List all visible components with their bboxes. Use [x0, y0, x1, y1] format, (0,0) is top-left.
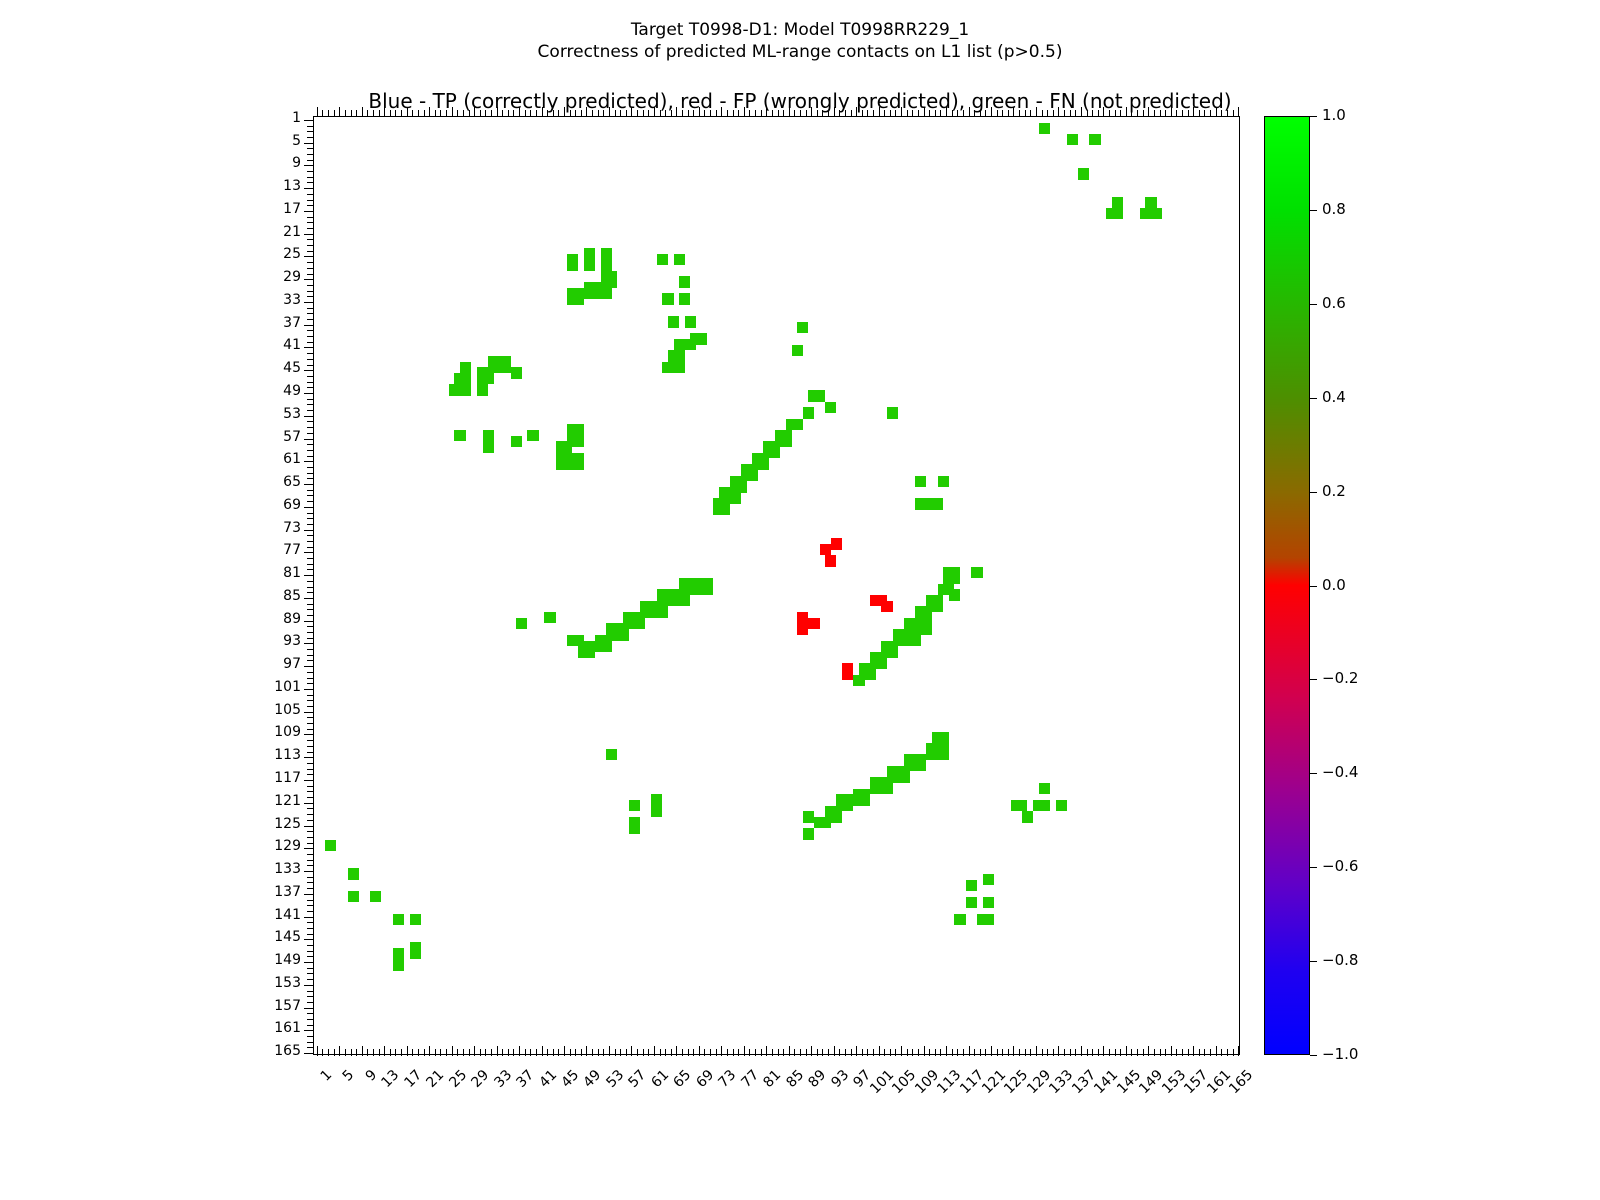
- y-tick: [307, 467, 314, 468]
- x-tick-bottom: [575, 1049, 576, 1056]
- x-tick-top: [1025, 110, 1026, 117]
- y-tick: [307, 723, 314, 724]
- x-tick-bottom: [1227, 1049, 1228, 1056]
- y-tick: [307, 558, 314, 559]
- y-tick: [307, 786, 314, 787]
- y-axis-tick-label: 81: [241, 565, 301, 581]
- x-tick-bottom: [862, 1049, 863, 1056]
- y-tick: [307, 285, 314, 286]
- contact-cell-fn: [915, 498, 943, 509]
- x-tick-bottom: [839, 1049, 840, 1056]
- x-tick-top: [1137, 110, 1138, 117]
- y-axis-tick-label: 17: [241, 201, 301, 217]
- y-tick: [307, 638, 314, 639]
- x-tick-bottom: [491, 1049, 492, 1056]
- x-tick-bottom: [1204, 1049, 1205, 1056]
- x-tick-top: [778, 110, 779, 117]
- y-axis-tick-label: 29: [241, 269, 301, 285]
- y-tick: [307, 313, 314, 314]
- x-tick-top: [480, 110, 481, 117]
- x-tick-top: [564, 107, 565, 117]
- contact-cell-fn: [674, 362, 685, 373]
- y-tick: [307, 1036, 314, 1037]
- colorbar-tick-label: 0.4: [1322, 388, 1346, 406]
- y-tick: [304, 780, 314, 781]
- contact-cell-fn: [1033, 800, 1050, 811]
- x-tick-bottom: [1064, 1049, 1065, 1056]
- y-tick: [304, 211, 314, 212]
- y-tick: [304, 439, 314, 440]
- y-tick: [307, 979, 314, 980]
- y-axis-tick-label: 69: [241, 497, 301, 513]
- x-tick-bottom: [716, 1049, 717, 1056]
- y-tick: [304, 1053, 314, 1054]
- y-tick: [307, 433, 314, 434]
- colorbar-tick: [1310, 867, 1317, 868]
- y-tick: [307, 541, 314, 542]
- x-tick-bottom: [1238, 1046, 1239, 1056]
- y-tick: [304, 734, 314, 735]
- x-tick-top: [440, 110, 441, 117]
- contact-cell-fn: [674, 339, 696, 350]
- x-tick-bottom: [727, 1049, 728, 1056]
- x-tick-bottom: [570, 1049, 571, 1056]
- colorbar-tick-label: 0.0: [1322, 576, 1346, 594]
- y-tick: [307, 291, 314, 292]
- x-tick-bottom: [867, 1049, 868, 1056]
- x-tick-top: [1131, 110, 1132, 117]
- contact-cell-fp: [825, 555, 836, 566]
- x-tick-bottom: [339, 1046, 340, 1056]
- x-tick-top: [1182, 110, 1183, 117]
- contact-cell-fn: [1106, 208, 1123, 219]
- y-axis-tick-label: 117: [241, 770, 301, 786]
- y-tick: [307, 239, 314, 240]
- contact-cell-fn: [949, 589, 960, 600]
- contact-cell-fn: [713, 498, 730, 515]
- contact-cell-fn: [668, 350, 685, 361]
- x-tick-bottom: [794, 1049, 795, 1056]
- x-tick-top: [513, 110, 514, 117]
- contact-cell-fn: [1056, 800, 1067, 811]
- y-tick: [307, 126, 314, 127]
- y-tick: [307, 660, 314, 661]
- x-tick-top: [491, 110, 492, 117]
- contact-cell-fn: [410, 914, 421, 925]
- x-tick-top: [1221, 110, 1222, 117]
- x-tick-bottom: [1182, 1049, 1183, 1056]
- y-tick: [304, 302, 314, 303]
- x-tick-bottom: [1188, 1049, 1189, 1056]
- x-tick-top: [424, 110, 425, 117]
- y-axis-tick-label: 89: [241, 611, 301, 627]
- x-tick-top: [912, 110, 913, 117]
- x-tick-bottom: [345, 1049, 346, 1056]
- x-tick-top: [710, 110, 711, 117]
- contact-cell-fn: [966, 880, 977, 891]
- x-tick-bottom: [1008, 1049, 1009, 1056]
- contact-cell-fn: [685, 316, 696, 327]
- x-tick-bottom: [822, 1049, 823, 1056]
- y-tick: [307, 843, 314, 844]
- x-tick-bottom: [1058, 1046, 1059, 1056]
- y-tick: [307, 695, 314, 696]
- x-tick-bottom: [390, 1049, 391, 1056]
- contact-map-figure: Target T0998-D1: Model T0998RR229_1 Corr…: [0, 0, 1600, 1200]
- x-tick-bottom: [542, 1046, 543, 1056]
- x-tick-top: [1176, 110, 1177, 117]
- x-tick-bottom: [615, 1049, 616, 1056]
- x-tick-top: [991, 107, 992, 117]
- x-tick-bottom: [1030, 1049, 1031, 1056]
- contact-cell-fn: [853, 675, 864, 686]
- contact-cell-fn: [449, 384, 471, 395]
- y-tick: [307, 399, 314, 400]
- y-axis-tick-label: 25: [241, 246, 301, 262]
- x-tick-top: [536, 110, 537, 117]
- x-tick-top: [1019, 110, 1020, 117]
- y-tick: [304, 643, 314, 644]
- colorbar-tick-label: 0.6: [1322, 294, 1346, 312]
- contact-cell-fn: [814, 817, 831, 828]
- x-tick-top: [1160, 110, 1161, 117]
- contact-cell-fn: [983, 874, 994, 885]
- x-tick-top: [738, 110, 739, 117]
- contact-cell-fn: [348, 891, 359, 902]
- y-tick: [307, 564, 314, 565]
- y-tick: [307, 228, 314, 229]
- contact-cell-fn: [1140, 208, 1162, 219]
- x-tick-top: [940, 110, 941, 117]
- x-tick-bottom: [1126, 1046, 1127, 1056]
- x-tick-top: [755, 110, 756, 117]
- x-tick-bottom: [643, 1049, 644, 1056]
- y-tick: [307, 996, 314, 997]
- contact-cell-fn: [679, 293, 690, 304]
- x-tick-top: [317, 107, 318, 117]
- x-tick-top: [879, 107, 880, 117]
- x-tick-bottom: [806, 1049, 807, 1056]
- x-tick-bottom: [1092, 1049, 1093, 1056]
- y-tick: [307, 524, 314, 525]
- y-axis-tick-label: 1: [241, 110, 301, 126]
- x-tick-bottom: [749, 1049, 750, 1056]
- y-tick: [307, 222, 314, 223]
- x-tick-top: [525, 110, 526, 117]
- x-tick-bottom: [446, 1049, 447, 1056]
- y-tick: [307, 182, 314, 183]
- x-tick-top: [1109, 110, 1110, 117]
- contact-cell-fn: [1067, 134, 1078, 145]
- y-tick: [304, 165, 314, 166]
- y-axis-tick-label: 153: [241, 975, 301, 991]
- x-tick-top: [1013, 107, 1014, 117]
- x-tick-top: [957, 110, 958, 117]
- x-tick-top: [901, 107, 902, 117]
- y-tick: [307, 1042, 314, 1043]
- y-tick: [307, 609, 314, 610]
- y-tick: [307, 319, 314, 320]
- y-tick: [307, 365, 314, 366]
- x-tick-bottom: [744, 1046, 745, 1056]
- y-tick: [307, 421, 314, 422]
- x-tick-top: [508, 110, 509, 117]
- x-tick-top: [822, 110, 823, 117]
- x-tick-top: [553, 110, 554, 117]
- y-tick: [304, 370, 314, 371]
- contact-cell-fn: [938, 476, 949, 487]
- x-tick-bottom: [1115, 1049, 1116, 1056]
- x-tick-bottom: [497, 1046, 498, 1056]
- contact-cell-fp: [881, 601, 892, 612]
- contact-cell-fn: [1039, 783, 1050, 794]
- x-tick-bottom: [1165, 1049, 1166, 1056]
- x-tick-top: [895, 110, 896, 117]
- contact-cell-fn: [1039, 123, 1050, 134]
- x-tick-bottom: [469, 1049, 470, 1056]
- y-axis-tick-label: 105: [241, 702, 301, 718]
- x-tick-bottom: [682, 1049, 683, 1056]
- x-tick-bottom: [530, 1049, 531, 1056]
- x-tick-bottom: [738, 1049, 739, 1056]
- x-tick-bottom: [800, 1049, 801, 1056]
- x-tick-bottom: [1210, 1049, 1211, 1056]
- y-tick: [304, 393, 314, 394]
- contact-cell-fn: [567, 635, 584, 646]
- x-tick-bottom: [733, 1049, 734, 1056]
- x-tick-bottom: [654, 1046, 655, 1056]
- contact-cell-fn: [410, 942, 421, 959]
- contact-cell-fn: [853, 789, 870, 806]
- x-tick-top: [1042, 110, 1043, 117]
- y-tick: [307, 945, 314, 946]
- x-tick-bottom: [901, 1046, 902, 1056]
- x-tick-top: [558, 110, 559, 117]
- contact-cell-fn: [803, 407, 814, 418]
- x-tick-bottom: [710, 1049, 711, 1056]
- x-tick-bottom: [452, 1046, 453, 1056]
- contact-cell-fn: [1089, 134, 1100, 145]
- y-tick: [307, 456, 314, 457]
- contact-cell-fn: [454, 430, 465, 441]
- contact-cell-fn: [516, 618, 527, 629]
- y-tick: [307, 797, 314, 798]
- x-tick-bottom: [1075, 1049, 1076, 1056]
- x-tick-top: [862, 110, 863, 117]
- x-tick-bottom: [929, 1049, 930, 1056]
- y-tick: [307, 604, 314, 605]
- contact-cell-fn: [977, 914, 994, 925]
- x-tick-top: [704, 110, 705, 117]
- x-tick-bottom: [508, 1049, 509, 1056]
- x-tick-bottom: [755, 1049, 756, 1056]
- x-tick-bottom: [1070, 1049, 1071, 1056]
- y-tick: [307, 513, 314, 514]
- y-tick: [304, 894, 314, 895]
- y-tick: [307, 137, 314, 138]
- x-tick-top: [469, 110, 470, 117]
- contact-cell-fn: [887, 407, 898, 418]
- y-tick: [307, 717, 314, 718]
- x-tick-bottom: [1019, 1049, 1020, 1056]
- x-tick-top: [1238, 107, 1239, 117]
- colorbar-tick: [1310, 961, 1317, 962]
- colorbar-tick-label: −0.4: [1322, 763, 1358, 781]
- x-tick-top: [772, 110, 773, 117]
- x-tick-top: [660, 110, 661, 117]
- y-tick: [307, 308, 314, 309]
- contact-cell-fn: [601, 288, 612, 299]
- x-tick-bottom: [1053, 1049, 1054, 1056]
- x-tick-top: [463, 110, 464, 117]
- contact-cell-layer: [314, 117, 1239, 1054]
- x-tick-bottom: [564, 1046, 565, 1056]
- contact-cell-fn: [662, 293, 673, 304]
- x-tick-top: [452, 107, 453, 117]
- y-axis-tick-label: 93: [241, 633, 301, 649]
- x-tick-top: [665, 110, 666, 117]
- x-tick-bottom: [1098, 1049, 1099, 1056]
- y-tick: [307, 769, 314, 770]
- colorbar-tick-label: −0.6: [1322, 857, 1358, 875]
- x-tick-top: [1081, 107, 1082, 117]
- x-tick-bottom: [1025, 1049, 1026, 1056]
- x-tick-top: [907, 110, 908, 117]
- x-tick-top: [1199, 110, 1200, 117]
- y-tick: [307, 814, 314, 815]
- y-tick: [307, 336, 314, 337]
- x-tick-bottom: [1002, 1049, 1003, 1056]
- x-tick-top: [794, 110, 795, 117]
- y-tick: [304, 325, 314, 326]
- x-tick-top: [1210, 110, 1211, 117]
- y-tick: [307, 683, 314, 684]
- contact-cell-fn: [921, 623, 932, 634]
- x-tick-bottom: [334, 1049, 335, 1056]
- x-tick-top: [395, 110, 396, 117]
- x-tick-bottom: [322, 1049, 323, 1056]
- y-tick: [307, 473, 314, 474]
- y-tick: [307, 991, 314, 992]
- x-tick-top: [643, 110, 644, 117]
- y-tick: [307, 131, 314, 132]
- y-tick: [307, 154, 314, 155]
- x-tick-top: [1008, 110, 1009, 117]
- y-tick: [307, 245, 314, 246]
- x-tick-top: [1047, 110, 1048, 117]
- x-tick-top: [390, 110, 391, 117]
- y-tick: [307, 700, 314, 701]
- x-tick-bottom: [474, 1046, 475, 1056]
- x-tick-bottom: [704, 1049, 705, 1056]
- x-tick-bottom: [851, 1049, 852, 1056]
- y-axis-tick-label: 45: [241, 360, 301, 376]
- x-tick-top: [530, 110, 531, 117]
- x-tick-top: [1204, 110, 1205, 117]
- x-tick-bottom: [845, 1049, 846, 1056]
- x-tick-bottom: [1109, 1049, 1110, 1056]
- y-tick: [307, 973, 314, 974]
- contact-cell-fn: [606, 749, 617, 760]
- contact-cell-fn: [629, 817, 640, 834]
- contact-cell-fn: [454, 373, 471, 384]
- contact-cell-fn: [601, 248, 612, 271]
- x-tick-top: [935, 110, 936, 117]
- x-tick-top: [1171, 107, 1172, 117]
- y-axis-tick-label: 53: [241, 406, 301, 422]
- y-axis-tick-label: 161: [241, 1020, 301, 1036]
- x-tick-top: [620, 110, 621, 117]
- y-tick: [307, 268, 314, 269]
- x-tick-top: [789, 107, 790, 117]
- y-tick: [304, 530, 314, 531]
- x-tick-top: [851, 110, 852, 117]
- x-tick-bottom: [367, 1049, 368, 1056]
- y-tick: [307, 820, 314, 821]
- colorbar-tick: [1310, 116, 1317, 117]
- x-tick-bottom: [424, 1049, 425, 1056]
- colorbar-tick-label: −0.2: [1322, 669, 1358, 687]
- contact-cell-fn: [668, 316, 679, 327]
- contact-cell-fn: [657, 254, 668, 265]
- contact-cell-fn: [803, 828, 814, 839]
- y-tick: [307, 490, 314, 491]
- contact-cell-fn: [674, 254, 685, 265]
- y-tick: [304, 1030, 314, 1031]
- contact-cell-fn: [544, 612, 555, 623]
- y-tick: [307, 387, 314, 388]
- y-tick: [304, 666, 314, 667]
- x-tick-top: [811, 107, 812, 117]
- contact-cell-fn: [971, 567, 982, 578]
- y-axis-tick-label: 113: [241, 747, 301, 763]
- x-tick-bottom: [834, 1046, 835, 1056]
- x-tick-bottom: [525, 1049, 526, 1056]
- x-tick-bottom: [963, 1049, 964, 1056]
- y-tick: [307, 518, 314, 519]
- x-tick-bottom: [907, 1049, 908, 1056]
- x-tick-top: [1030, 110, 1031, 117]
- y-axis-tick-label: 49: [241, 383, 301, 399]
- colorbar-tick: [1310, 773, 1317, 774]
- y-tick: [307, 581, 314, 582]
- x-tick-top: [1092, 110, 1093, 117]
- x-tick-top: [721, 107, 722, 117]
- x-tick-top: [407, 107, 408, 117]
- colorbar-tick-label: 0.8: [1322, 200, 1346, 218]
- x-tick-bottom: [351, 1049, 352, 1056]
- y-tick: [307, 1025, 314, 1026]
- contact-cell-fn: [1145, 197, 1156, 208]
- x-tick-top: [570, 110, 571, 117]
- y-tick: [307, 706, 314, 707]
- x-tick-top: [474, 107, 475, 117]
- x-tick-top: [362, 107, 363, 117]
- x-tick-top: [924, 107, 925, 117]
- y-tick: [307, 160, 314, 161]
- y-tick: [307, 410, 314, 411]
- x-tick-bottom: [637, 1049, 638, 1056]
- y-tick: [307, 1047, 314, 1048]
- x-tick-top: [1053, 110, 1054, 117]
- y-axis-tick-label: 57: [241, 429, 301, 445]
- x-tick-bottom: [895, 1049, 896, 1056]
- x-tick-bottom: [373, 1049, 374, 1056]
- y-tick: [307, 672, 314, 673]
- y-axis-tick-label: 37: [241, 315, 301, 331]
- y-tick: [307, 615, 314, 616]
- y-tick: [307, 547, 314, 548]
